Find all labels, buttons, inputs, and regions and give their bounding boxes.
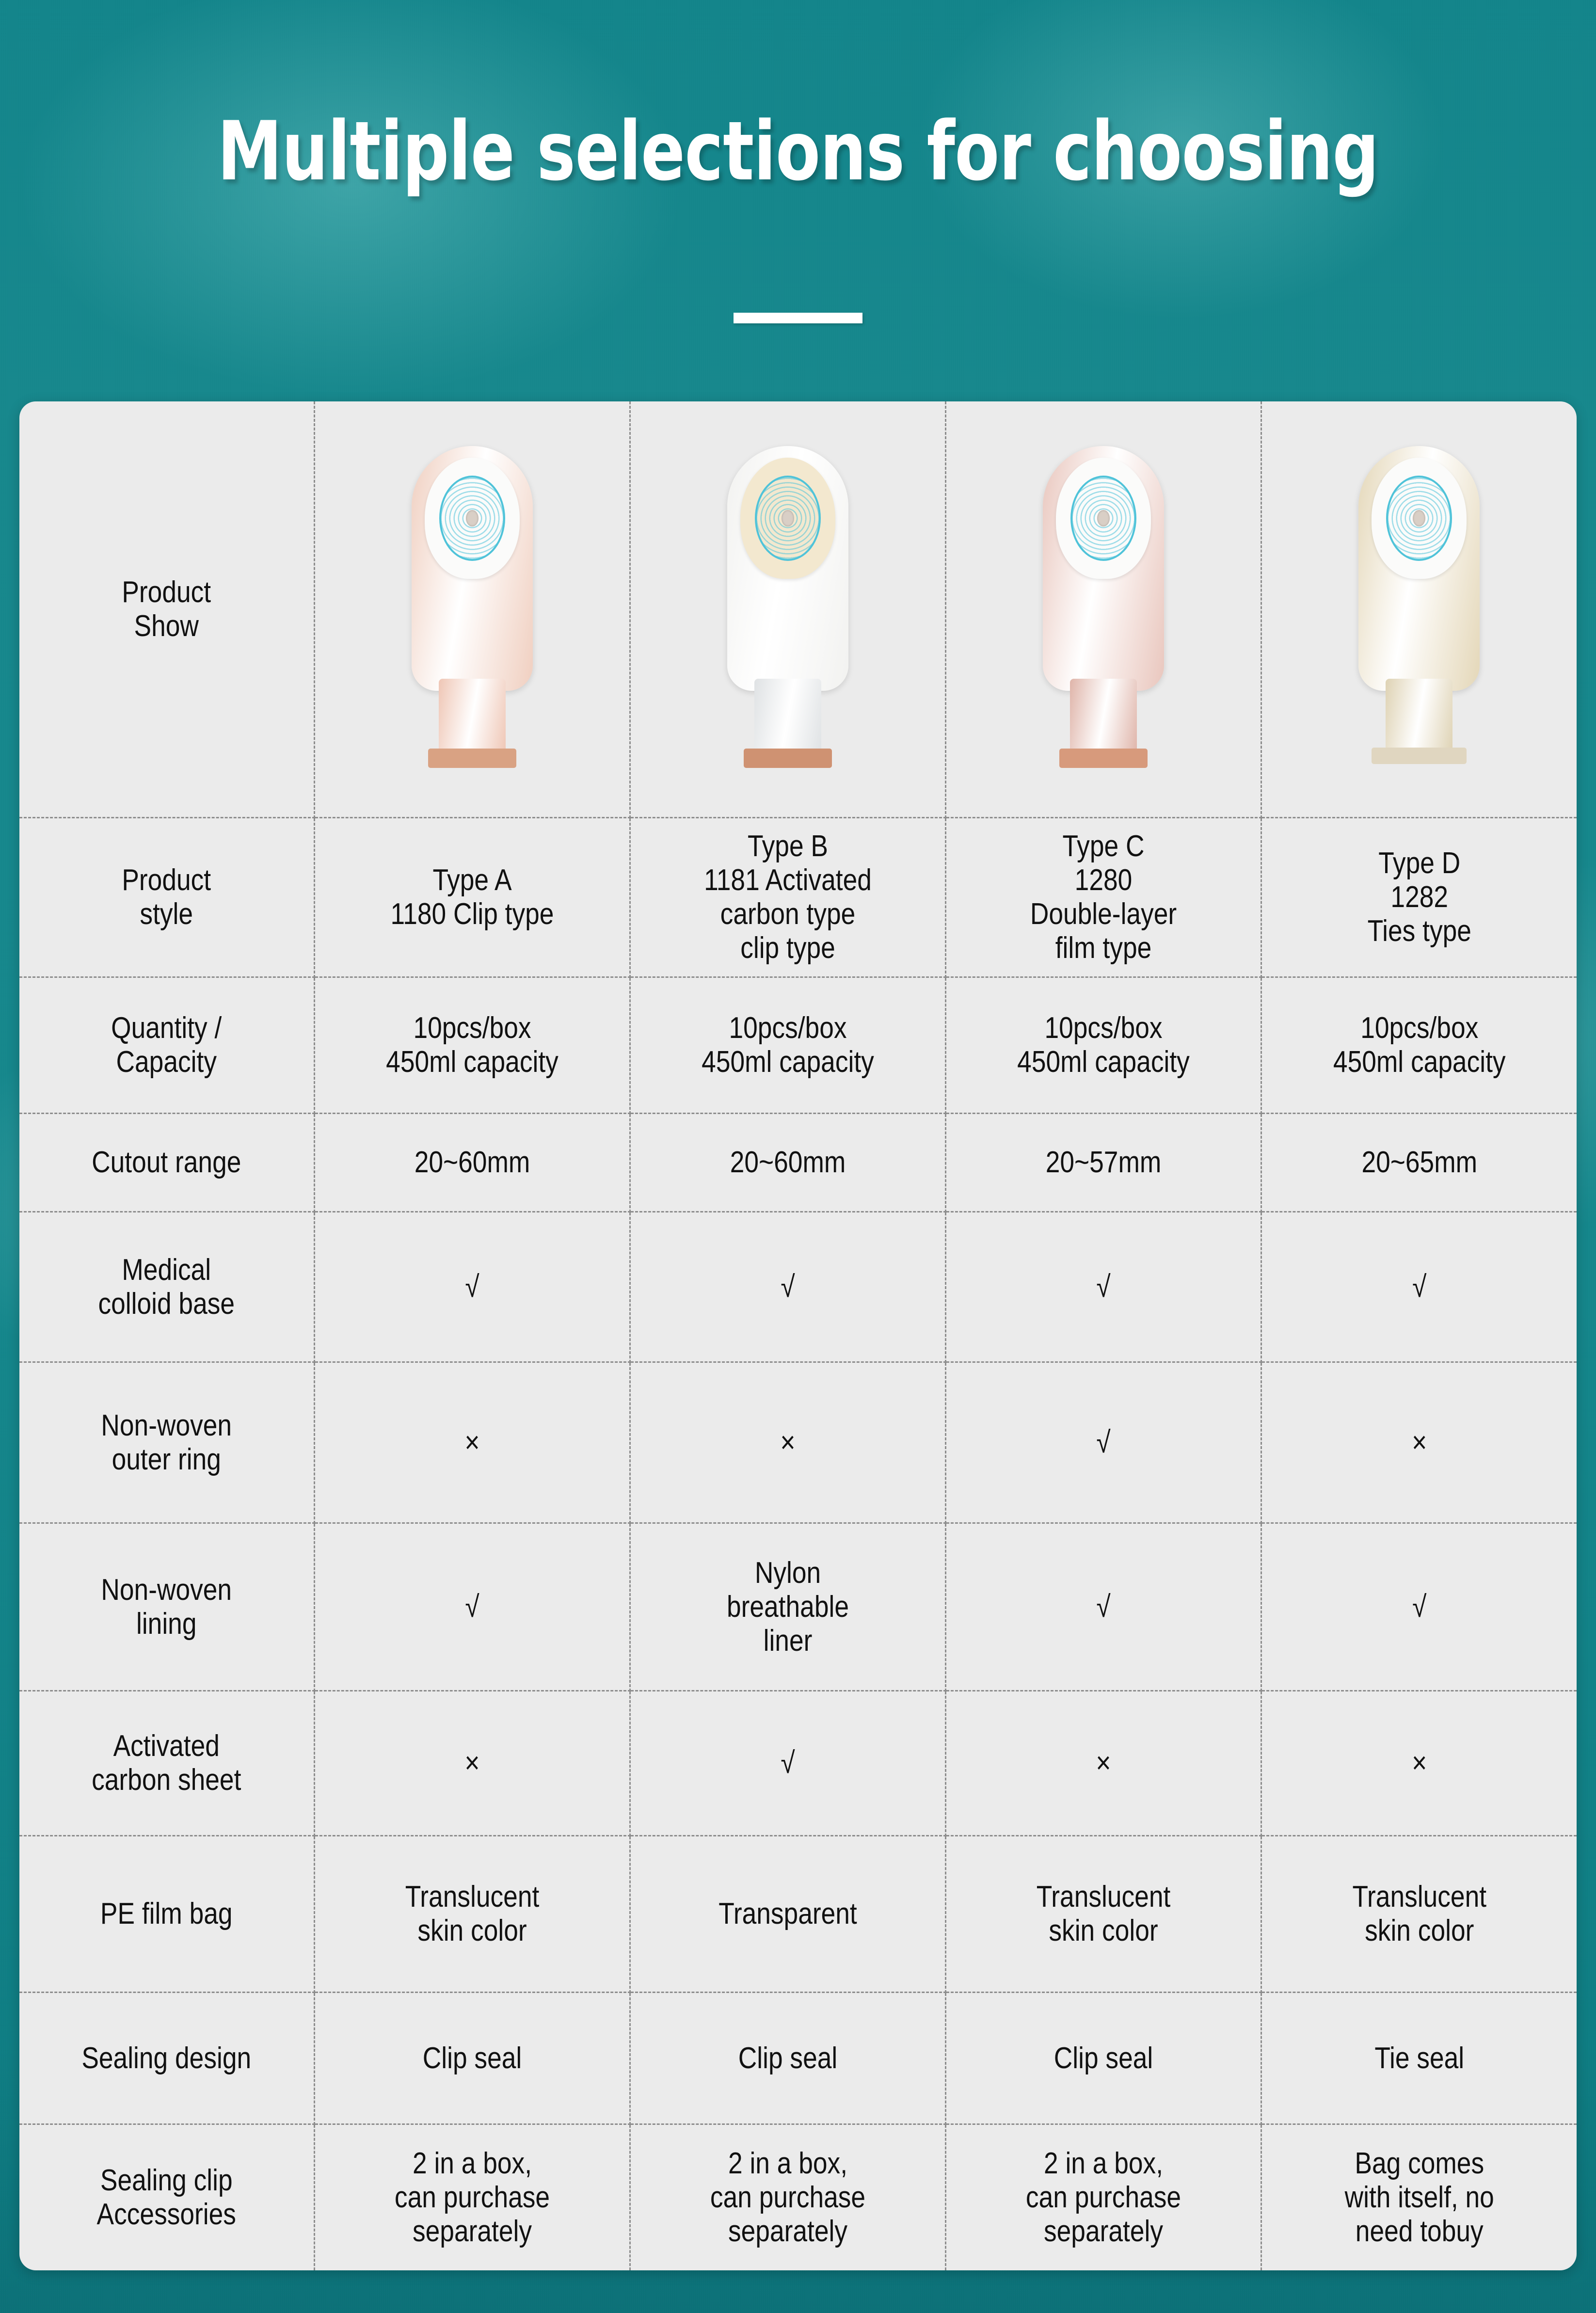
table-row-label: Non-wovenouter ring <box>19 1362 314 1523</box>
cell-mark-glyph: √ <box>656 1746 920 1780</box>
cell-mark-glyph: × <box>340 1746 604 1780</box>
table-row-label: Quantity /Capacity <box>19 977 314 1114</box>
row-label-line: Sealing design <box>43 2042 289 2075</box>
table-row-label: Productstyle <box>19 818 314 977</box>
table-cell-text: Translucentskin color <box>945 1835 1261 1992</box>
table-cell-text: Transparent <box>630 1835 945 1992</box>
cell-mark-glyph: √ <box>972 1426 1235 1460</box>
cell-mark-glyph: √ <box>1287 1270 1551 1304</box>
cell-line: 20~60mm <box>656 1146 920 1180</box>
table-cell-text: Type A1180 Clip type <box>314 818 630 977</box>
bag-outlet <box>1070 679 1137 756</box>
cell-mark-glyph: √ <box>340 1590 604 1624</box>
cell-line: Transparent <box>656 1897 920 1931</box>
cell-line: Clip seal <box>972 2042 1235 2075</box>
cell-line: Double-layer <box>972 897 1235 931</box>
cell-mark-glyph: √ <box>972 1590 1235 1624</box>
cell-line: 1280 <box>972 863 1235 897</box>
table-cell-mark: √ <box>945 1523 1261 1691</box>
cell-line: skin color <box>340 1914 604 1948</box>
table-cell-text: Tie seal <box>1261 1993 1577 2124</box>
cell-line: separately <box>656 2215 920 2249</box>
row-label-line: Non-woven <box>43 1573 289 1607</box>
cell-line: Clip seal <box>340 2042 604 2075</box>
table-row-label: Activatedcarbon sheet <box>19 1691 314 1836</box>
cell-line: 450ml capacity <box>1287 1045 1551 1079</box>
ostomy-bag-type-d <box>1327 437 1511 782</box>
cell-line: can purchase <box>656 2181 920 2215</box>
cell-line: 10pcs/box <box>972 1011 1235 1045</box>
comparison-table: ProductShowProductstyleType A1180 Clip t… <box>19 401 1577 2270</box>
cell-line: separately <box>972 2215 1235 2249</box>
product-comparison-table: ProductShowProductstyleType A1180 Clip t… <box>19 401 1577 2270</box>
cell-line: clip type <box>656 931 920 965</box>
table-row-label: Sealing design <box>19 1993 314 2124</box>
table-cell-mark: × <box>1261 1691 1577 1836</box>
table-cell-mark: √ <box>1261 1212 1577 1362</box>
adhesive-flange <box>425 458 520 579</box>
cell-line: Type D <box>1287 846 1551 880</box>
row-label-line: style <box>43 897 289 931</box>
bag-outlet <box>1386 679 1452 756</box>
table-cell-text: 20~65mm <box>1261 1114 1577 1212</box>
cell-mark-glyph: × <box>1287 1426 1551 1460</box>
adhesive-flange <box>740 458 835 579</box>
table-cell-mark: × <box>314 1362 630 1523</box>
cell-line: Type A <box>340 863 604 897</box>
table-cell-text: 20~60mm <box>630 1114 945 1212</box>
cell-line: skin color <box>972 1914 1235 1948</box>
cell-line: 1180 Clip type <box>340 897 604 931</box>
cell-line: Bag comes <box>1287 2147 1551 2181</box>
table-cell-text: 10pcs/box450ml capacity <box>945 977 1261 1114</box>
table-cell-text: Clip seal <box>630 1993 945 2124</box>
cell-line: separately <box>340 2215 604 2249</box>
table-cell-mark: √ <box>630 1691 945 1836</box>
row-label-line: Capacity <box>43 1045 289 1079</box>
table-cell-product-image <box>630 401 945 818</box>
table-cell-product-image <box>314 401 630 818</box>
table-cell-mark: × <box>1261 1362 1577 1523</box>
table-row: Cutout range20~60mm20~60mm20~57mm20~65mm <box>19 1114 1577 1212</box>
cell-line: 10pcs/box <box>1287 1011 1551 1045</box>
bag-clip-closure <box>744 749 832 768</box>
table-row: ProductstyleType A1180 Clip typeType B11… <box>19 818 1577 977</box>
table-cell-text: Bag comeswith itself, noneed tobuy <box>1261 2124 1577 2270</box>
cell-line: 2 in a box, <box>340 2147 604 2181</box>
table-cell-text: 2 in a box,can purchaseseparately <box>945 2124 1261 2270</box>
table-cell-text: Nylonbreathableliner <box>630 1523 945 1691</box>
table-cell-text: Type B1181 Activatedcarbon typeclip type <box>630 818 945 977</box>
table-cell-text: Translucentskin color <box>1261 1835 1577 1992</box>
table-cell-text: Translucentskin color <box>314 1835 630 1992</box>
table-row-label: Medicalcolloid base <box>19 1212 314 1362</box>
table-cell-mark: × <box>630 1362 945 1523</box>
ostomy-bag-type-a <box>380 437 564 782</box>
table-cell-text: Clip seal <box>314 1993 630 2124</box>
cutting-guide-ring-icon <box>1070 476 1136 561</box>
table-cell-text: 2 in a box,can purchaseseparately <box>314 2124 630 2270</box>
table-row: ProductShow <box>19 401 1577 818</box>
row-label-line: colloid base <box>43 1287 289 1321</box>
cell-line: 2 in a box, <box>656 2147 920 2181</box>
cell-mark-glyph: × <box>1287 1746 1551 1780</box>
cell-line: breathable <box>656 1590 920 1624</box>
cell-line: 10pcs/box <box>656 1011 920 1045</box>
cell-line: Nylon <box>656 1556 920 1590</box>
table-row-label: Cutout range <box>19 1114 314 1212</box>
cell-mark-glyph: × <box>656 1426 920 1460</box>
row-label-line: lining <box>43 1607 289 1641</box>
row-label-line: Sealing clip <box>43 2164 289 2198</box>
cell-line: Tie seal <box>1287 2042 1551 2075</box>
table-cell-text: Clip seal <box>945 1993 1261 2124</box>
table-cell-product-image <box>1261 401 1577 818</box>
cutting-guide-ring-icon <box>439 476 505 561</box>
table-cell-mark: × <box>945 1691 1261 1836</box>
cutting-guide-ring-icon <box>1386 476 1452 561</box>
stoma-opening <box>466 510 479 526</box>
table-row-label: ProductShow <box>19 401 314 818</box>
cell-line: 2 in a box, <box>972 2147 1235 2181</box>
table-cell-mark: √ <box>630 1212 945 1362</box>
cell-line: 20~57mm <box>972 1146 1235 1180</box>
table-cell-mark: √ <box>314 1212 630 1362</box>
table-row: Sealing designClip sealClip sealClip sea… <box>19 1993 1577 2124</box>
row-label-line: Non-woven <box>43 1409 289 1443</box>
table-row-label: Non-wovenlining <box>19 1523 314 1691</box>
row-label-line: outer ring <box>43 1443 289 1477</box>
cell-mark-glyph: √ <box>1287 1590 1551 1624</box>
cell-line: carbon type <box>656 897 920 931</box>
table-cell-text: Type C1280Double-layerfilm type <box>945 818 1261 977</box>
table-cell-mark: √ <box>945 1212 1261 1362</box>
table-cell-text: 10pcs/box450ml capacity <box>314 977 630 1114</box>
table-cell-text: 20~57mm <box>945 1114 1261 1212</box>
cell-line: Translucent <box>972 1880 1235 1914</box>
cell-line: 20~65mm <box>1287 1146 1551 1180</box>
table-row: Medicalcolloid base√√√√ <box>19 1212 1577 1362</box>
table-cell-mark: √ <box>314 1523 630 1691</box>
table-cell-mark: × <box>314 1691 630 1836</box>
cell-line: Clip seal <box>656 2042 920 2075</box>
cell-line: Translucent <box>340 1880 604 1914</box>
cell-line: film type <box>972 931 1235 965</box>
cell-line: 20~60mm <box>340 1146 604 1180</box>
cell-line: skin color <box>1287 1914 1551 1948</box>
row-label-line: Quantity / <box>43 1011 289 1045</box>
table-cell-text: 10pcs/box450ml capacity <box>630 977 945 1114</box>
cell-line: with itself, no <box>1287 2181 1551 2215</box>
adhesive-flange <box>1056 458 1151 579</box>
row-label-line: Activated <box>43 1729 289 1763</box>
table-cell-mark: √ <box>945 1362 1261 1523</box>
cell-line: 450ml capacity <box>340 1045 604 1079</box>
cell-line: 1181 Activated <box>656 863 920 897</box>
cutting-guide-ring-icon <box>755 476 821 561</box>
page-title: Multiple selections for choosing <box>160 111 1436 192</box>
cell-mark-glyph: × <box>972 1746 1235 1780</box>
cell-line: need tobuy <box>1287 2215 1551 2249</box>
stoma-opening <box>1097 510 1110 526</box>
table-row: Non-wovenouter ring××√× <box>19 1362 1577 1523</box>
cell-line: liner <box>656 1624 920 1658</box>
row-label-line: Show <box>43 609 289 643</box>
cell-line: Translucent <box>1287 1880 1551 1914</box>
row-label-line: Product <box>43 863 289 897</box>
cell-mark-glyph: √ <box>656 1270 920 1304</box>
ostomy-bag-type-c <box>1011 437 1196 782</box>
table-cell-text: Type D1282Ties type <box>1261 818 1577 977</box>
stoma-opening <box>782 510 794 526</box>
table-cell-text: 10pcs/box450ml capacity <box>1261 977 1577 1114</box>
table-cell-text: 2 in a box,can purchaseseparately <box>630 2124 945 2270</box>
table-cell-product-image <box>945 401 1261 818</box>
cell-line: 10pcs/box <box>340 1011 604 1045</box>
cell-line: Ties type <box>1287 914 1551 948</box>
cell-line: Type C <box>972 829 1235 863</box>
table-row-label: Sealing clipAccessories <box>19 2124 314 2270</box>
table-row: Quantity /Capacity10pcs/box450ml capacit… <box>19 977 1577 1114</box>
bag-tie-closure <box>1372 748 1467 764</box>
table-cell-text: 20~60mm <box>314 1114 630 1212</box>
cell-line: 450ml capacity <box>656 1045 920 1079</box>
cell-line: 450ml capacity <box>972 1045 1235 1079</box>
table-row: PE film bagTranslucentskin colorTranspar… <box>19 1835 1577 1992</box>
table-row: Activatedcarbon sheet×√×× <box>19 1691 1577 1836</box>
bag-outlet <box>754 679 821 756</box>
stoma-opening <box>1413 510 1425 526</box>
cell-line: can purchase <box>340 2181 604 2215</box>
table-row: Non-wovenlining√Nylonbreathableliner√√ <box>19 1523 1577 1691</box>
bag-outlet <box>439 679 506 756</box>
title-divider <box>734 313 862 323</box>
cell-line: 1282 <box>1287 880 1551 914</box>
cell-mark-glyph: √ <box>340 1270 604 1304</box>
row-label-line: Accessories <box>43 2198 289 2232</box>
table-cell-mark: √ <box>1261 1523 1577 1691</box>
cell-mark-glyph: √ <box>972 1270 1235 1304</box>
row-label-line: Cutout range <box>43 1146 289 1180</box>
ostomy-bag-type-b <box>696 437 880 782</box>
bag-clip-closure <box>1059 749 1148 768</box>
cell-line: can purchase <box>972 2181 1235 2215</box>
cell-mark-glyph: × <box>340 1426 604 1460</box>
table-row: Sealing clipAccessories2 in a box,can pu… <box>19 2124 1577 2270</box>
row-label-line: carbon sheet <box>43 1763 289 1797</box>
bag-clip-closure <box>428 749 516 768</box>
table-row-label: PE film bag <box>19 1835 314 1992</box>
row-label-line: PE film bag <box>43 1897 289 1931</box>
cell-line: Type B <box>656 829 920 863</box>
adhesive-flange <box>1372 458 1467 579</box>
page-header: Multiple selections for choosing <box>0 0 1596 368</box>
row-label-line: Medical <box>43 1253 289 1287</box>
row-label-line: Product <box>43 575 289 609</box>
